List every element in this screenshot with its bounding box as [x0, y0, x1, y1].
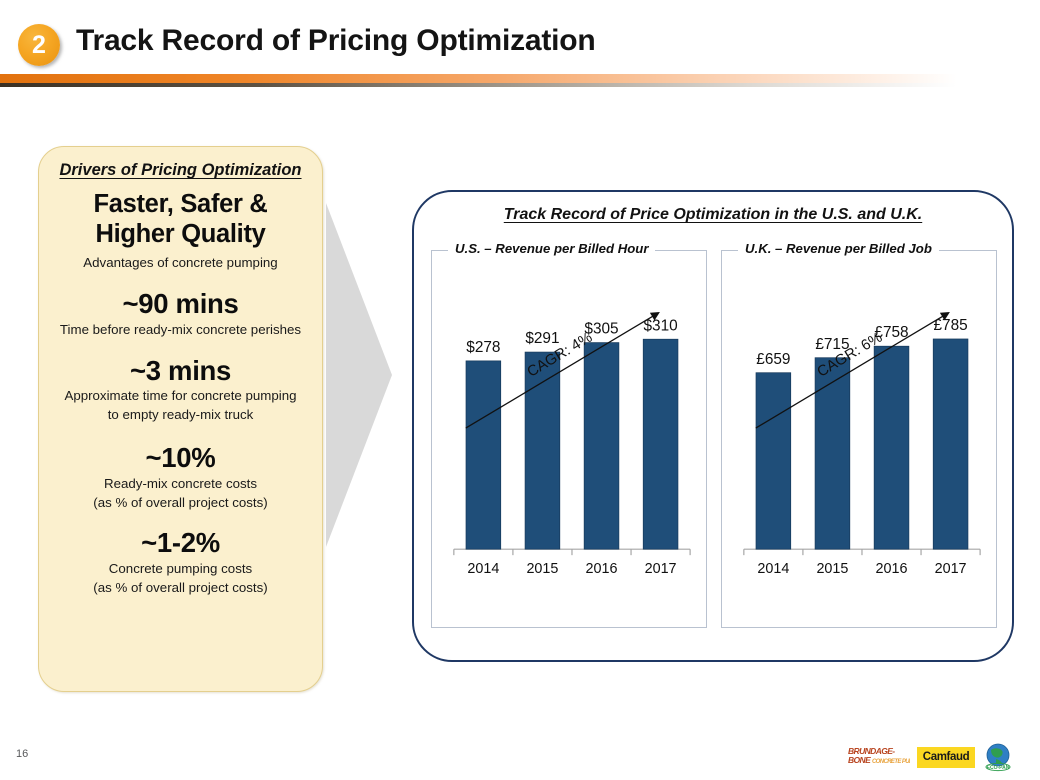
- stat-caption-3-mins-line1: Approximate time for concrete pumping: [51, 388, 310, 405]
- svg-text:2015: 2015: [816, 561, 848, 577]
- stat-caption-1-2-percent-line1: Concrete pumping costs: [51, 561, 310, 578]
- stat-caption-3-mins-line2: to empty ready-mix truck: [51, 407, 310, 424]
- header-divider-gradient: [0, 74, 1040, 83]
- header-divider-shadow: [0, 83, 1040, 87]
- svg-text:$278: $278: [466, 339, 500, 356]
- bar-chart-uk: £6592014£7152015£7582016£7852017CAGR: 6%: [722, 251, 996, 627]
- page-number: 16: [16, 748, 28, 760]
- stat-item-10-percent: ~10% Ready-mix concrete costs (as % of o…: [51, 442, 310, 511]
- brundage-bone-logo-line2: BONE CONCRETE PUMPING: [848, 756, 910, 767]
- svg-text:$291: $291: [525, 330, 559, 347]
- flow-arrow-icon: [326, 203, 392, 547]
- svg-text:2014: 2014: [757, 561, 789, 577]
- stat-item-quality: Faster, Safer & Higher Quality Advantage…: [51, 190, 310, 272]
- chart-box-uk: U.K. – Revenue per Billed Job £6592014£7…: [721, 250, 997, 628]
- svg-text:£659: £659: [756, 351, 790, 368]
- stat-item-3-mins: ~3 mins Approximate time for concrete pu…: [51, 355, 310, 424]
- stat-value-3-mins: ~3 mins: [51, 355, 310, 387]
- stat-value-quality-line1: Faster, Safer &: [51, 190, 310, 220]
- stat-caption-1-2-percent-line2: (as % of overall project costs): [51, 580, 310, 597]
- charts-panel: Track Record of Price Optimization in th…: [412, 190, 1014, 662]
- stat-caption-10-percent-line2: (as % of overall project costs): [51, 495, 310, 512]
- svg-text:2014: 2014: [467, 561, 499, 577]
- svg-text:2017: 2017: [645, 561, 677, 577]
- page-title: Track Record of Pricing Optimization: [76, 24, 596, 58]
- svg-text:$310: $310: [643, 317, 677, 334]
- svg-text:2016: 2016: [586, 561, 618, 577]
- stat-caption-90-mins: Time before ready-mix concrete perishes: [51, 322, 310, 339]
- chart-box-us: U.S. – Revenue per Billed Hour $2782014$…: [431, 250, 707, 628]
- brundage-bone-logo: BRUNDAGE- BONE CONCRETE PUMPING: [848, 746, 910, 768]
- eco-pan-logo: ECO-PAN: [982, 742, 1016, 772]
- brundage-bone-logo-tagline: CONCRETE PUMPING: [872, 759, 910, 765]
- stat-value-10-percent: ~10%: [51, 442, 310, 474]
- stat-item-90-mins: ~90 mins Time before ready-mix concrete …: [51, 288, 310, 339]
- drivers-of-pricing-optimization-panel: Drivers of Pricing Optimization Faster, …: [38, 146, 323, 692]
- stat-caption-quality: Advantages of concrete pumping: [51, 255, 310, 272]
- footer-logos: BRUNDAGE- BONE CONCRETE PUMPING Camfaud …: [848, 742, 1028, 772]
- camfaud-logo: Camfaud: [917, 747, 975, 768]
- drivers-panel-heading: Drivers of Pricing Optimization: [51, 161, 310, 180]
- svg-text:2017: 2017: [935, 561, 967, 577]
- stat-value-90-mins: ~90 mins: [51, 288, 310, 320]
- section-number-badge: 2: [18, 24, 60, 66]
- stat-caption-10-percent-line1: Ready-mix concrete costs: [51, 476, 310, 493]
- svg-text:2016: 2016: [876, 561, 908, 577]
- svg-text:2015: 2015: [526, 561, 558, 577]
- stat-value-quality-line2: Higher Quality: [51, 220, 310, 250]
- stat-item-1-2-percent: ~1-2% Concrete pumping costs (as % of ov…: [51, 527, 310, 596]
- charts-panel-title: Track Record of Price Optimization in th…: [414, 206, 1012, 224]
- svg-text:£785: £785: [933, 317, 967, 334]
- stat-value-1-2-percent: ~1-2%: [51, 527, 310, 559]
- brundage-bone-logo-bone: BONE: [848, 755, 870, 765]
- bar-chart-us: $2782014$2912015$3052016$3102017CAGR: 4%: [432, 251, 706, 627]
- slide-header: 2 Track Record of Pricing Optimization: [0, 0, 1040, 92]
- svg-text:ECO-PAN: ECO-PAN: [987, 765, 1010, 771]
